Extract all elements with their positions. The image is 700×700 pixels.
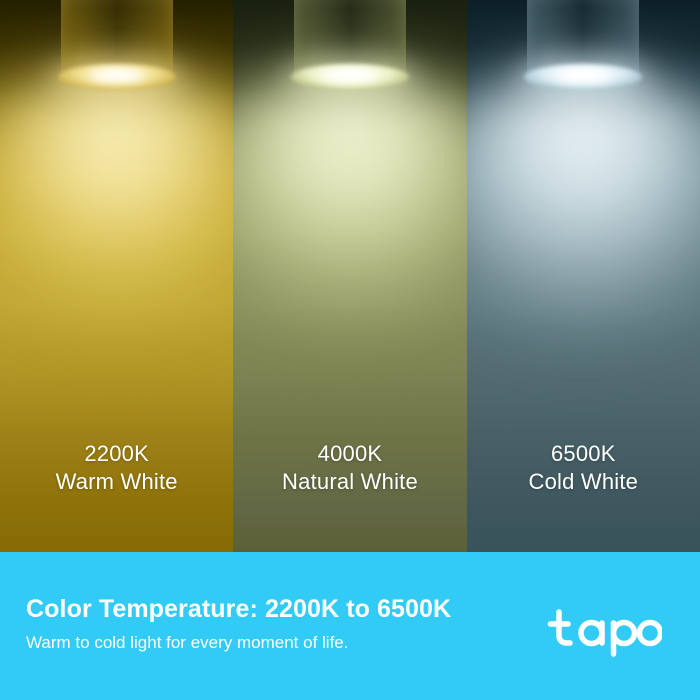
light-halo-cold-white [467,70,700,320]
banner-text-block: Color Temperature: 2200K to 6500K Warm t… [26,595,451,653]
panel-warm-white: 2200K Warm White [0,0,233,552]
ceiling-downlight-icon [527,0,639,90]
panel-natural-white: 4000K Natural White [233,0,466,552]
brand-banner: Color Temperature: 2200K to 6500K Warm t… [0,552,700,700]
banner-title: Color Temperature: 2200K to 6500K [26,595,451,624]
panel-cold-white: 6500K Cold White [467,0,700,552]
banner-subtitle: Warm to cold light for every moment of l… [26,633,451,653]
ceiling-downlight-icon [294,0,406,90]
light-halo-natural-white [233,70,466,320]
light-comparison-scene: 2200K Warm White 4000K Natural White [0,0,700,552]
color-temperature-poster: 2200K Warm White 4000K Natural White [0,0,700,700]
ceiling-downlight-icon [61,0,173,90]
fixture-hotspot [555,70,611,82]
fixture-hotspot [322,70,378,82]
light-halo-warm-white [0,70,233,320]
tapo-wordmark-icon [544,605,662,657]
fixture-hotspot [89,70,145,82]
